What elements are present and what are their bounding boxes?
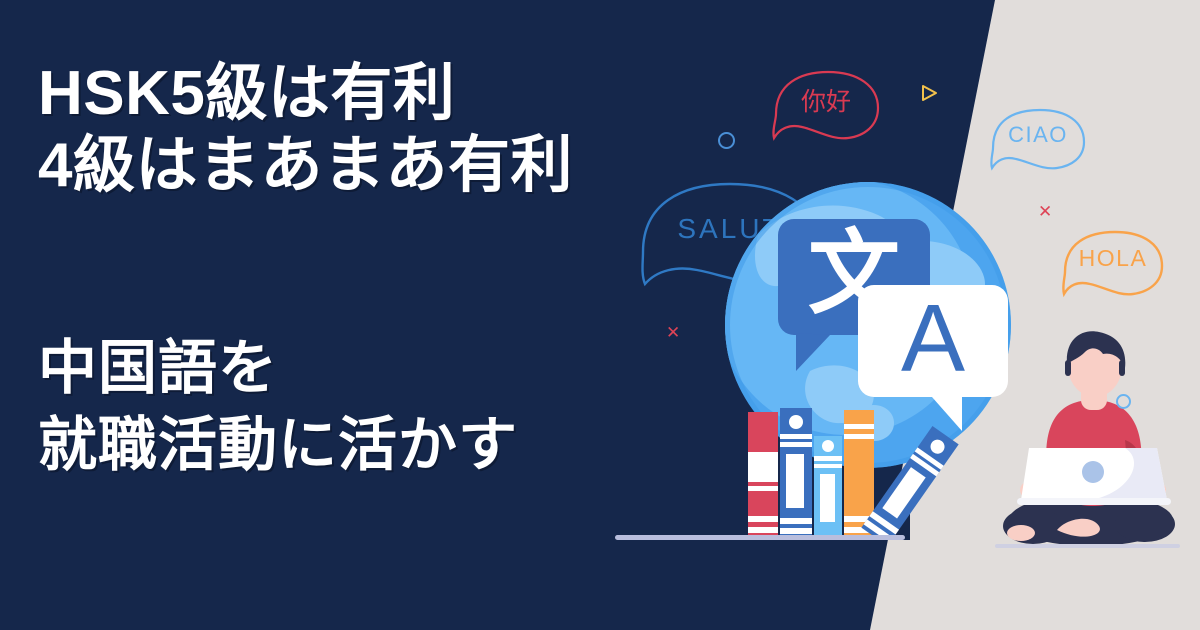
triangle-yellow-icon [920, 84, 938, 102]
headline-line-1: HSK5級は有利 [38, 58, 798, 130]
ring-tiny-blue-icon [1116, 394, 1131, 409]
book-red [748, 412, 778, 540]
speech-bubble-nihao-text: 你好 [801, 82, 851, 118]
speech-bubble-hola-text: HOLA [1079, 245, 1148, 272]
shelf-line-right [995, 544, 1180, 548]
headline-line-2: 4級はまあまあ有利 [38, 130, 798, 202]
speech-bubble-hola: HOLA [1060, 228, 1166, 296]
shelf-line-left [615, 535, 905, 540]
x-mark-red-right-icon: ✕ [1038, 204, 1052, 221]
person-with-laptop-illustration [995, 330, 1195, 550]
subheadline-line-1: 中国語を [38, 330, 738, 407]
subheadline-block: 中国語を 就職活動に活かす [38, 330, 738, 483]
globe-bubble-right-text: A [901, 285, 965, 392]
book-blue-light [814, 436, 842, 540]
book-stack-illustration [740, 390, 970, 540]
person-laptop [1017, 448, 1171, 505]
headline-block: HSK5級は有利 4級はまあまあ有利 [38, 58, 798, 202]
speech-bubble-ciao: CIAO [988, 106, 1088, 170]
subheadline-line-2: 就職活動に活かす [38, 407, 738, 484]
speech-bubble-ciao-text: CIAO [1008, 122, 1068, 148]
book-blue-dark [780, 408, 812, 540]
thumbnail-canvas: SALUT 文 [0, 0, 1200, 630]
